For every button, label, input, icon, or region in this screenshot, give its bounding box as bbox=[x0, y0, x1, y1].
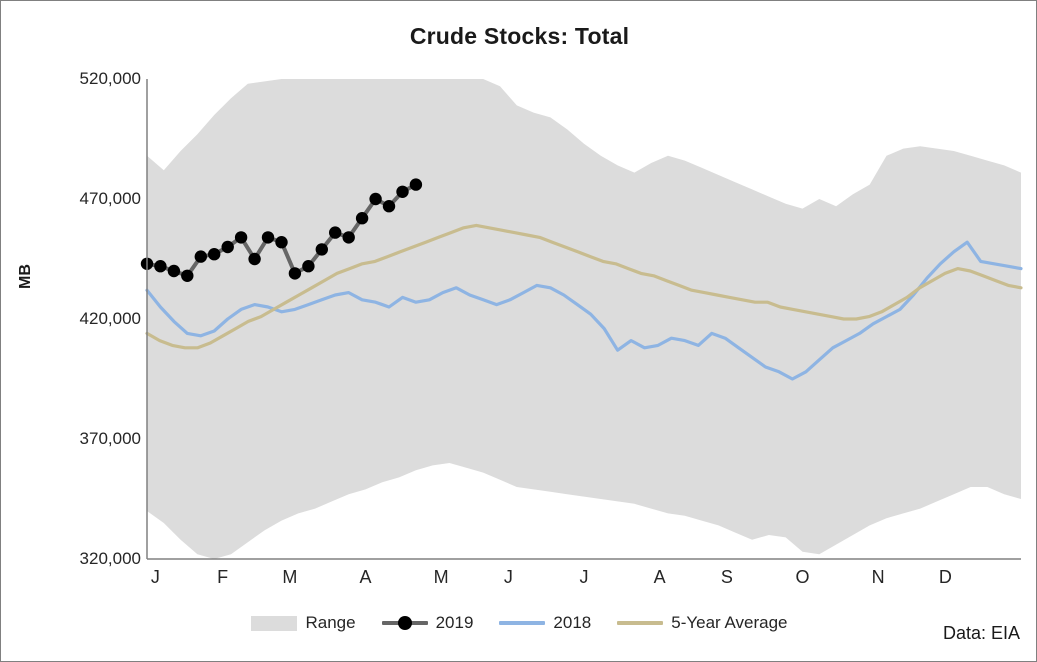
data-point-marker bbox=[275, 236, 287, 248]
x-tick-label: J bbox=[140, 567, 170, 588]
legend-swatch-bar bbox=[499, 621, 545, 625]
legend-label: 5-Year Average bbox=[671, 613, 787, 633]
legend-item-5-year-average[interactable]: 5-Year Average bbox=[617, 613, 787, 633]
legend-swatch-bar bbox=[617, 621, 663, 625]
x-tick-label: A bbox=[645, 567, 675, 588]
data-point-marker bbox=[208, 248, 220, 260]
x-tick-label: A bbox=[351, 567, 381, 588]
legend-label: 2019 bbox=[436, 613, 474, 633]
legend-swatch-line bbox=[617, 616, 663, 630]
data-point-marker bbox=[235, 231, 247, 243]
x-tick-label: O bbox=[788, 567, 818, 588]
legend-item-2019[interactable]: 2019 bbox=[382, 613, 474, 633]
data-point-marker bbox=[316, 243, 328, 255]
legend-swatch-marker-icon bbox=[398, 616, 412, 630]
series-range-band bbox=[147, 79, 1021, 559]
source-note: Data: EIA bbox=[943, 623, 1020, 644]
chart-container: Crude Stocks: Total MB 320,000370,000420… bbox=[0, 0, 1037, 662]
x-tick-label: M bbox=[426, 567, 456, 588]
data-point-marker bbox=[248, 253, 260, 265]
data-point-marker bbox=[262, 231, 274, 243]
data-point-marker bbox=[181, 270, 193, 282]
legend-swatch-fill bbox=[251, 616, 297, 631]
data-point-marker bbox=[410, 178, 422, 190]
data-point-marker bbox=[396, 186, 408, 198]
x-tick-label: J bbox=[569, 567, 599, 588]
data-point-marker bbox=[154, 260, 166, 272]
chart-legend: Range201920185-Year Average bbox=[1, 613, 1037, 633]
x-tick-label: N bbox=[863, 567, 893, 588]
data-point-marker bbox=[222, 241, 234, 253]
legend-item-2018[interactable]: 2018 bbox=[499, 613, 591, 633]
legend-item-range[interactable]: Range bbox=[251, 613, 355, 633]
x-tick-label: F bbox=[208, 567, 238, 588]
legend-swatch-line bbox=[499, 616, 545, 630]
data-point-marker bbox=[289, 267, 301, 279]
data-point-marker bbox=[195, 250, 207, 262]
data-point-marker bbox=[343, 231, 355, 243]
data-point-marker bbox=[356, 212, 368, 224]
x-tick-label: S bbox=[712, 567, 742, 588]
x-tick-label: D bbox=[930, 567, 960, 588]
data-point-marker bbox=[329, 226, 341, 238]
data-point-marker bbox=[168, 265, 180, 277]
data-point-marker bbox=[383, 200, 395, 212]
data-point-marker bbox=[369, 193, 381, 205]
legend-label: 2018 bbox=[553, 613, 591, 633]
plot-area bbox=[1, 1, 1037, 662]
x-tick-label: M bbox=[275, 567, 305, 588]
legend-swatch-line bbox=[382, 616, 428, 630]
data-point-marker bbox=[302, 260, 314, 272]
x-tick-label: J bbox=[493, 567, 523, 588]
legend-label: Range bbox=[305, 613, 355, 633]
